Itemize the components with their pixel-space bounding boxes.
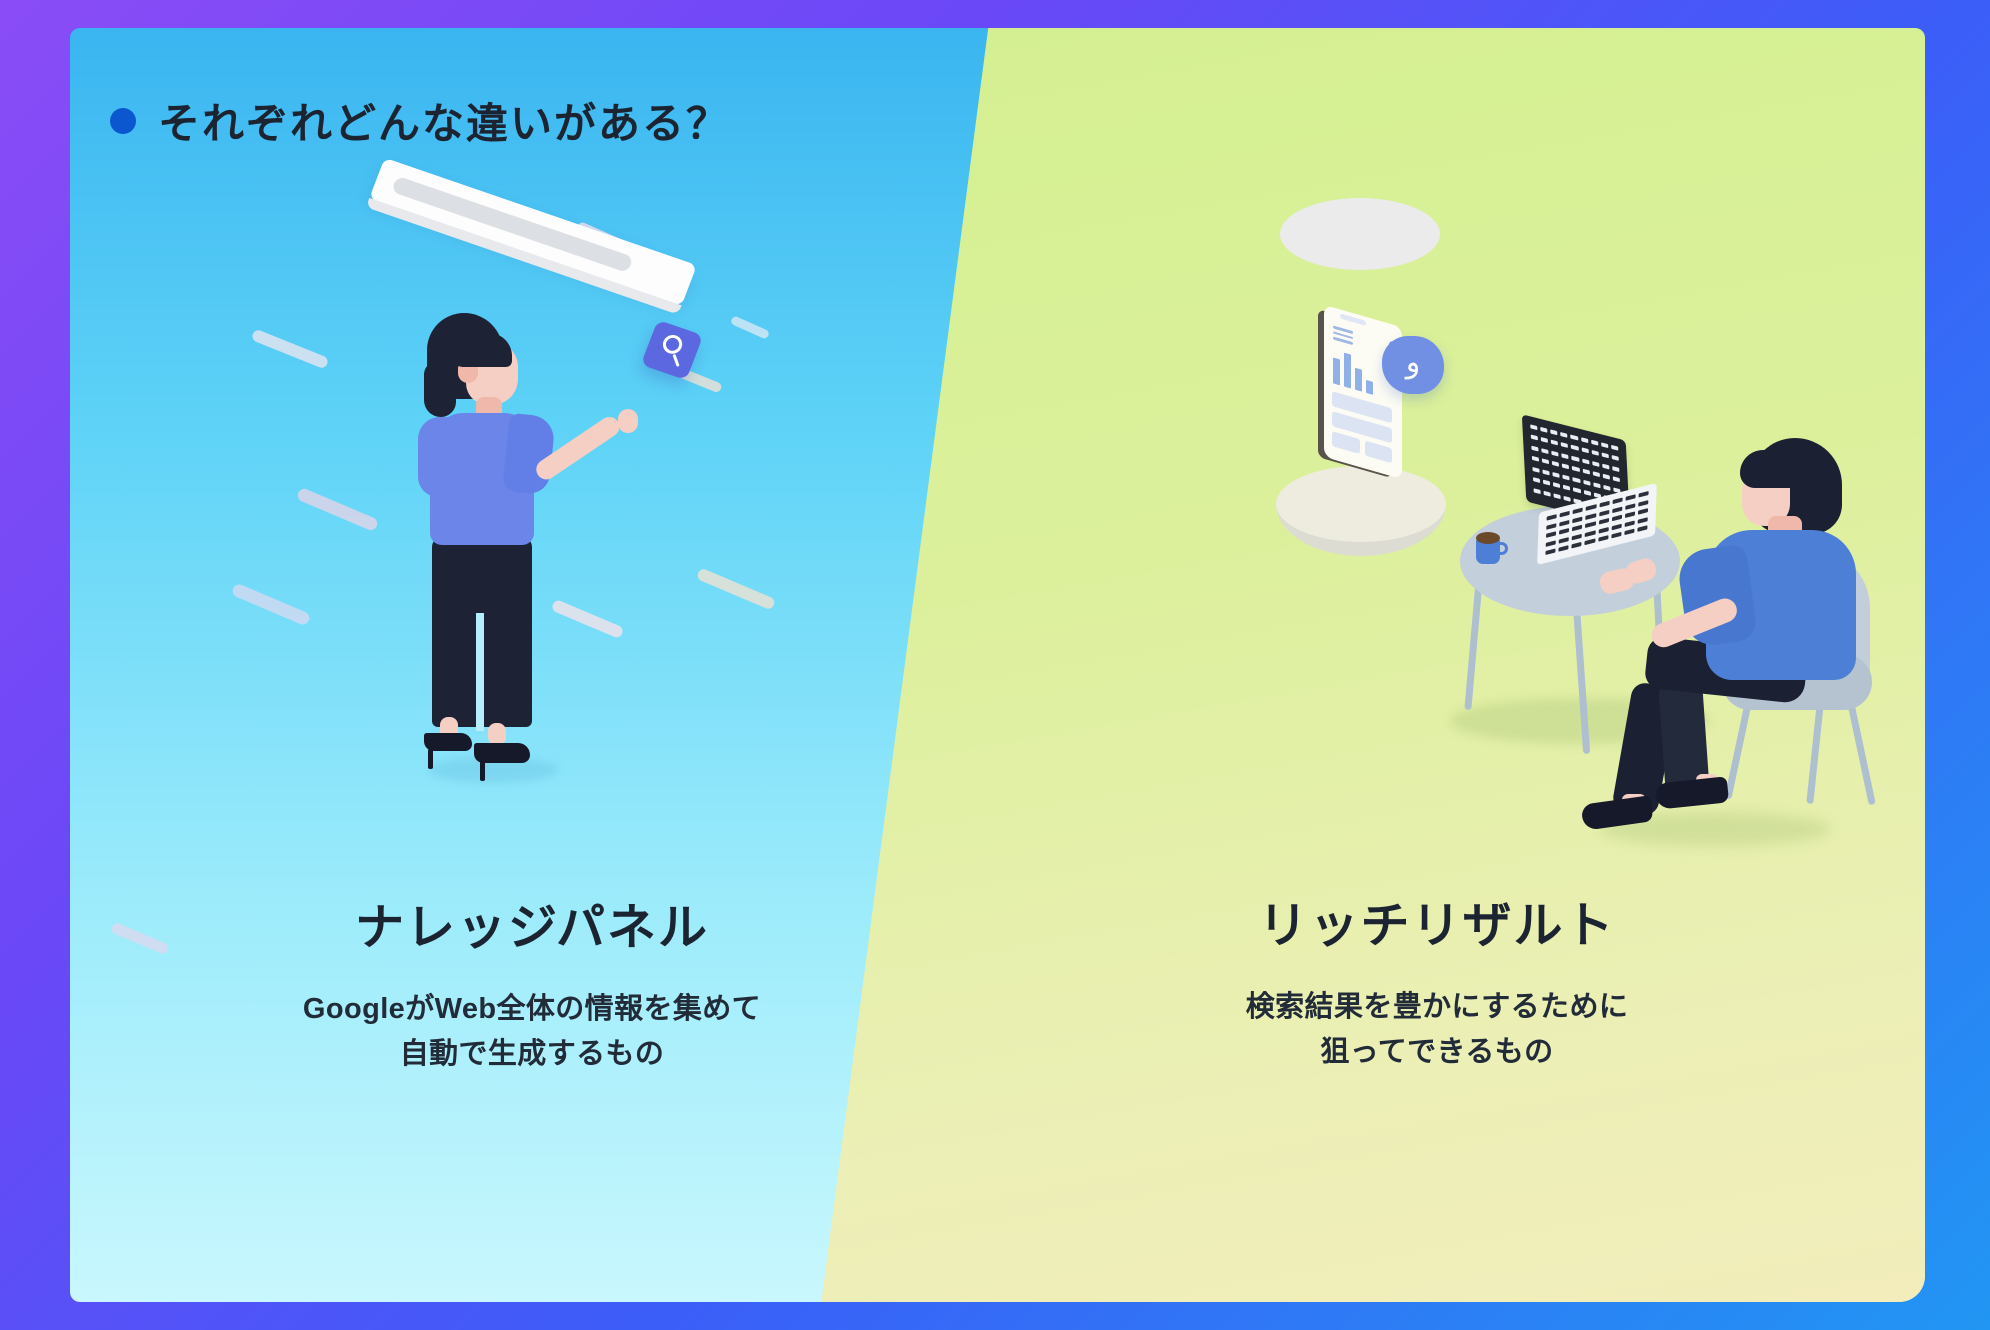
magnifier-icon <box>660 332 685 356</box>
floating-phone-graphic: و <box>1324 305 1402 479</box>
knowledge-panel-illustration <box>250 168 770 768</box>
hair-front <box>452 333 512 367</box>
magnifier-handle-icon <box>672 354 679 367</box>
right-shoe <box>474 743 530 763</box>
pedestal-disc-bottom <box>1276 466 1446 576</box>
table-leg <box>1464 580 1482 710</box>
phone-text-lines <box>1333 325 1353 347</box>
search-badge-graphic: و <box>1382 336 1444 394</box>
right-hand <box>618 409 638 433</box>
disc-top-face <box>1280 198 1440 270</box>
right-heel <box>480 761 485 781</box>
search-bar-graphic <box>369 158 697 307</box>
left-heel <box>428 749 433 769</box>
bullet-dot-icon <box>110 108 136 134</box>
hair-front <box>1740 450 1804 488</box>
chair-leg <box>1806 694 1824 804</box>
phone-notch <box>1340 313 1366 325</box>
search-button-graphic <box>641 320 704 380</box>
phone-bar-chart <box>1333 349 1373 394</box>
slide-frame: それぞれどんな違いがある？ <box>0 0 1990 1330</box>
right-panel-caption: リッチリザルト 検索結果を豊かにするために 狙ってできるもの <box>1067 886 1807 1075</box>
left-panel-subtitle-line1: GoogleがWeb全体の情報を集めて <box>162 987 902 1032</box>
badge-glyph: و <box>1406 348 1421 378</box>
phone-content-blocks <box>1332 391 1392 468</box>
mug-coffee-surface <box>1476 532 1500 544</box>
page-title: それぞれどんな違いがある？ <box>110 90 730 151</box>
trouser-split <box>476 613 484 731</box>
right-panel-title: リッチリザルト <box>1067 886 1807 957</box>
left-panel-caption: ナレッジパネル GoogleがWeb全体の情報を集めて 自動で生成するもの <box>162 888 902 1077</box>
left-panel-title: ナレッジパネル <box>162 888 902 959</box>
disc-top-face <box>1276 466 1446 542</box>
slide-canvas: それぞれどんな違いがある？ <box>70 28 1925 1302</box>
rich-result-illustration: و و <box>1270 198 1925 858</box>
left-panel-subtitle-line2: 自動で生成するもの <box>162 1032 902 1077</box>
page-title-label: それぞれどんな違いがある？ <box>158 90 730 151</box>
right-ankle <box>488 723 506 745</box>
hair-tail <box>424 361 456 417</box>
right-sleeve <box>502 413 556 495</box>
left-sleeve <box>418 417 458 497</box>
search-bar-side <box>366 198 682 315</box>
desk-scene <box>1450 398 1925 868</box>
decorative-dash <box>110 922 170 956</box>
right-panel-subtitle-line1: 検索結果を豊かにするために <box>1067 985 1807 1030</box>
woman-figure <box>380 313 580 753</box>
pedestal-disc-top <box>1280 198 1440 288</box>
right-panel-subtitle-line2: 狙ってできるもの <box>1067 1030 1807 1075</box>
